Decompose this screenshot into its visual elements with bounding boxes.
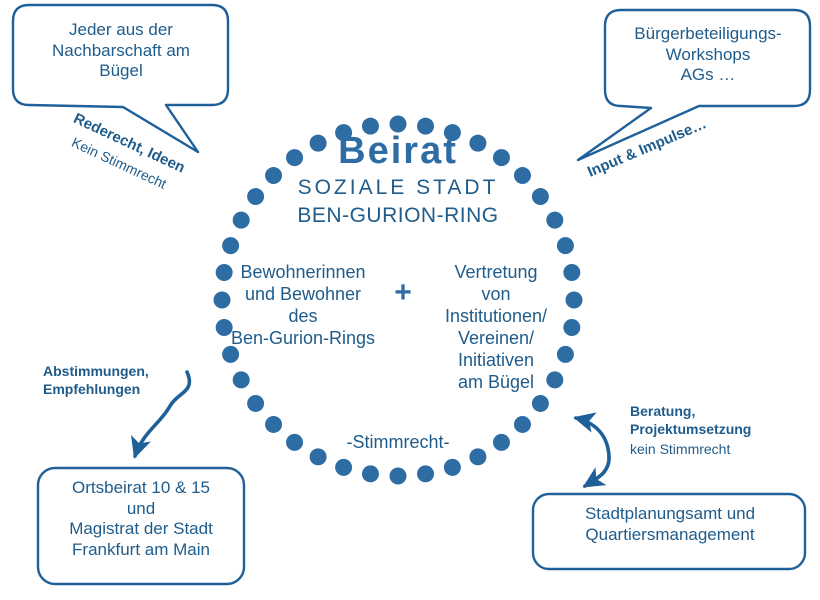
ring-dot: [390, 468, 407, 485]
ring-dot: [222, 237, 239, 254]
bubble-top-left-label: Jeder aus der Nachbarschaft am Bügel: [23, 20, 219, 82]
ring-dot: [493, 434, 510, 451]
ring-dot: [286, 434, 303, 451]
plus-icon: +: [388, 275, 418, 312]
arrow-beratung: [576, 418, 609, 486]
page-title: Beirat: [258, 128, 538, 174]
page-subtitle-primary: SOZIALE STADT: [258, 175, 538, 201]
box-bottom-right-label: Stadtplanungsamt und Quartiersmanagement: [541, 504, 799, 545]
ring-dot: [563, 319, 580, 336]
annotation-abstimmungen: Abstimmungen, Empfehlungen: [43, 362, 193, 398]
page-subtitle-secondary: BEN-GURION-RING: [258, 203, 538, 229]
ring-dot: [233, 212, 250, 229]
ring-dot: [247, 395, 264, 412]
ring-dot: [557, 237, 574, 254]
ring-dot: [532, 395, 549, 412]
ring-dot: [514, 416, 531, 433]
annotation-beratung: Beratung, Projektumsetzung: [630, 402, 800, 438]
box-bottom-left-label: Ortsbeirat 10 & 15 und Magistrat der Sta…: [44, 478, 238, 561]
ring-dot: [417, 465, 434, 482]
ring-column-residents: Bewohnerinnen und Bewohner des Ben-Gurio…: [218, 262, 388, 350]
ring-dot: [566, 292, 583, 309]
ring-voting-note: -Stimmrecht-: [313, 432, 483, 454]
ring-dot: [233, 371, 250, 388]
ring-dot: [362, 465, 379, 482]
ring-dot: [265, 416, 282, 433]
bubble-top-right-label: Bürgerbeteiligungs- Workshops AGs …: [613, 24, 803, 86]
ring-column-institutions: Vertretung von Institutionen/ Vereinen/ …: [428, 262, 564, 394]
ring-dot: [563, 264, 580, 281]
diagram-canvas: Jeder aus der Nachbarschaft am Bügel Bür…: [0, 0, 820, 600]
ring-dot: [444, 459, 461, 476]
ring-dot: [546, 212, 563, 229]
annotation-beratung-sub: kein Stimmrecht: [630, 441, 800, 458]
ring-dot: [335, 459, 352, 476]
